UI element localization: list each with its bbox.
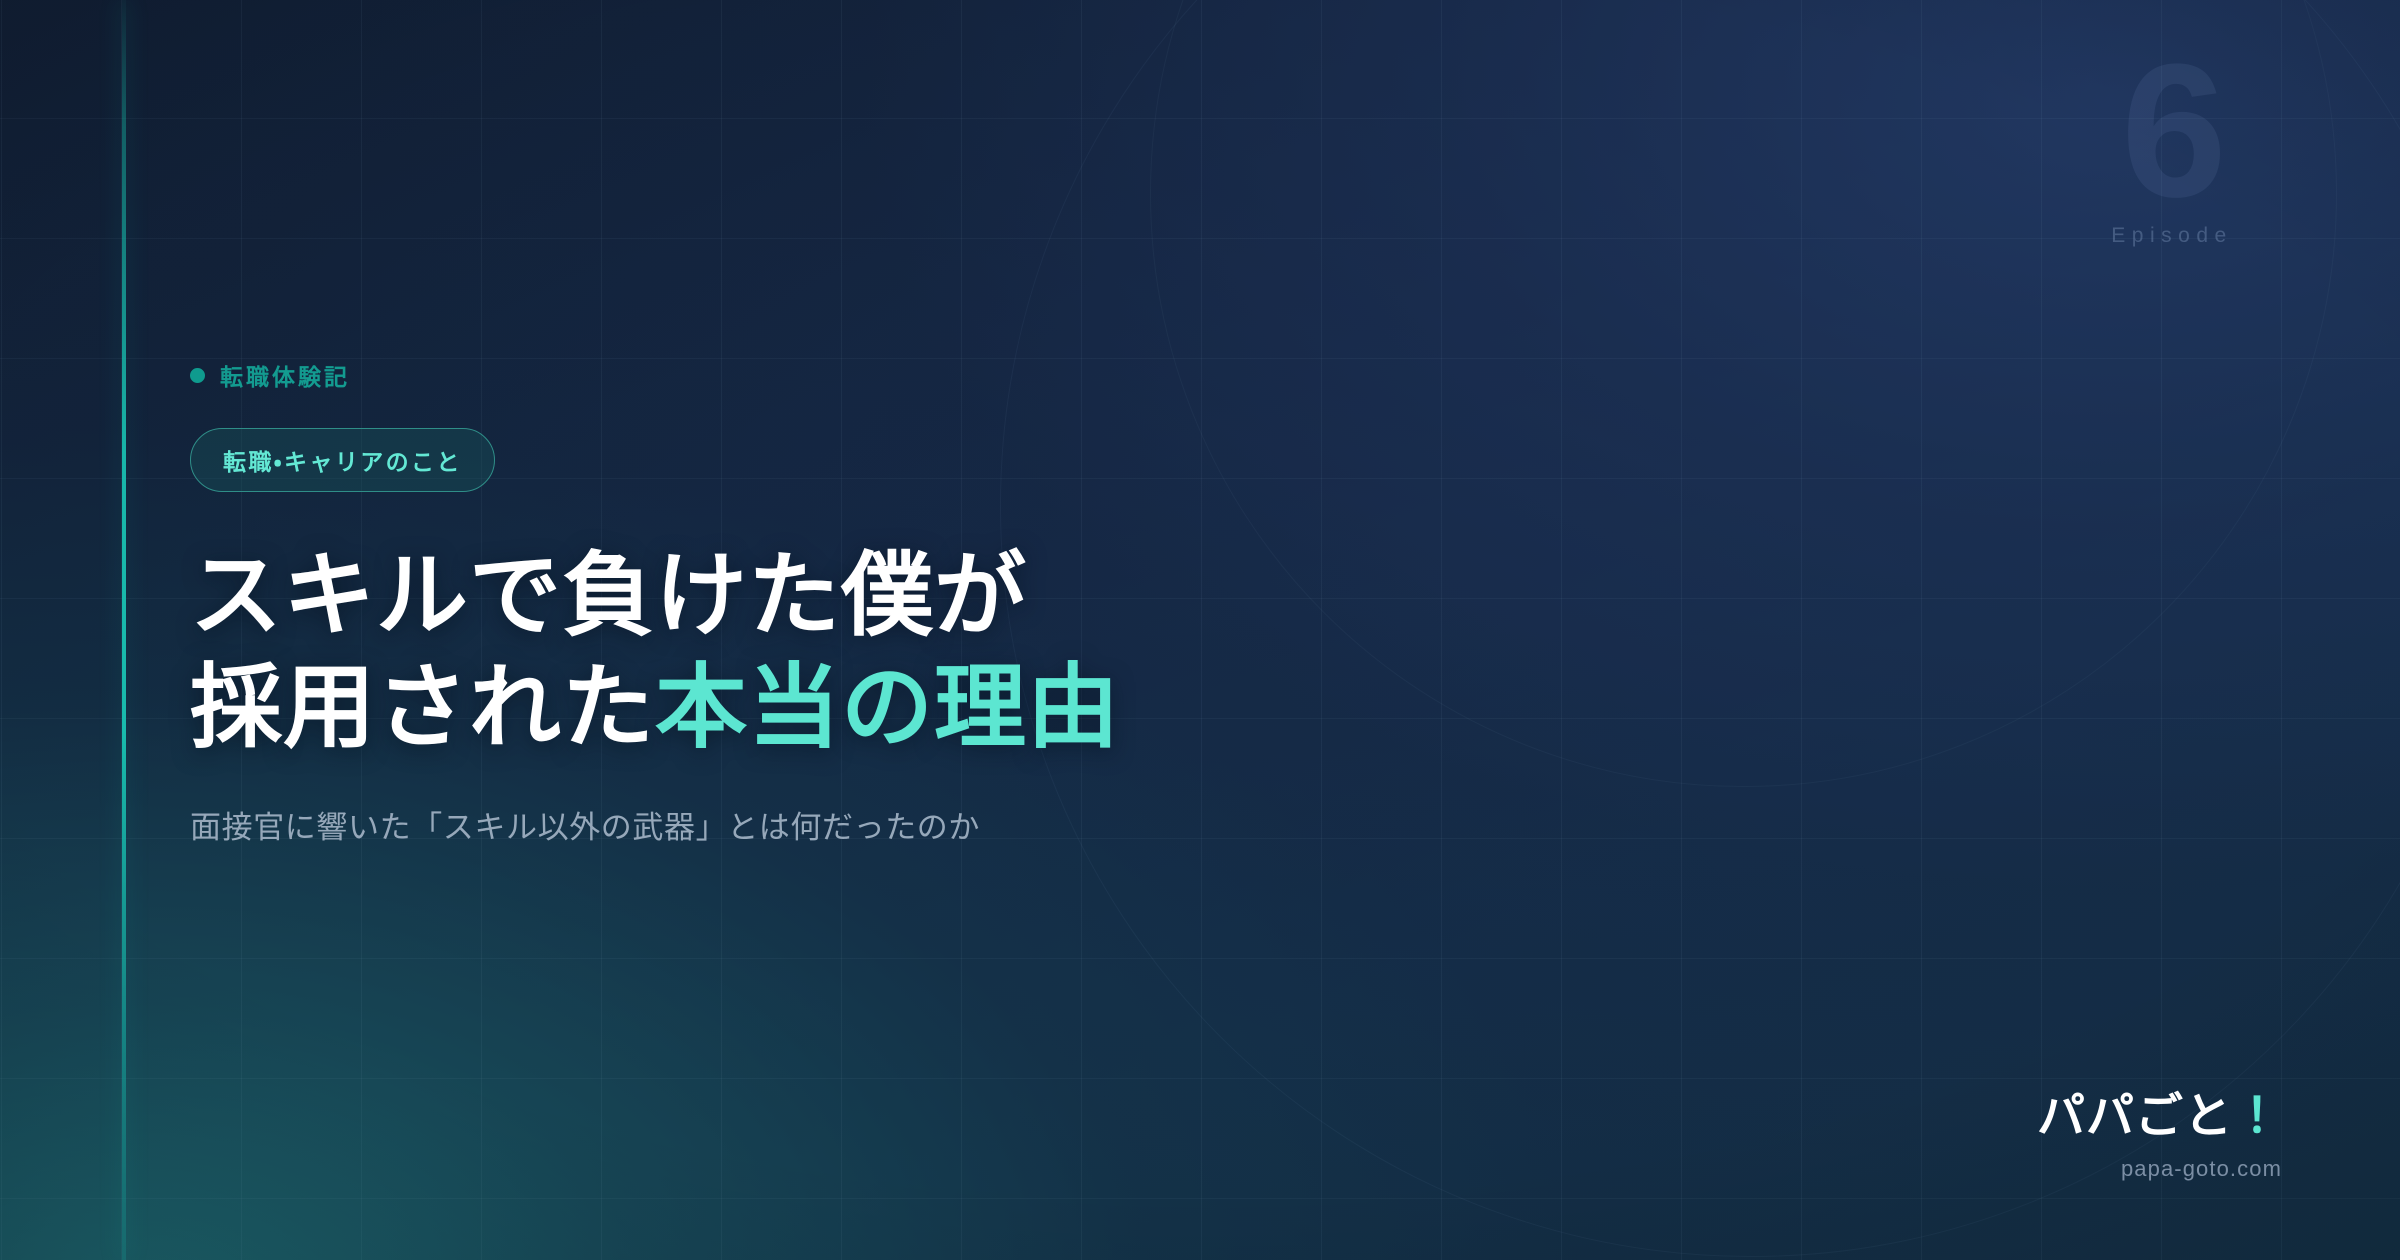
eyebrow-label: 転職体験記 — [220, 358, 350, 392]
title-slide: 6 Episode 転職体験記 転職・キャリアのこと スキルで負けた僕が 採用さ… — [0, 0, 2400, 1260]
subtitle: 面接官に響いた「スキル以外の武器」とは何だったのか — [190, 802, 1540, 847]
left-accent-rail — [122, 0, 126, 1260]
eyebrow: 転職体験記 — [190, 358, 1540, 392]
title-line-2-highlight: 本当の理由 — [655, 657, 1120, 759]
episode-mark: 6 Episode — [2062, 54, 2282, 248]
title-line-2: 採用された本当の理由 — [190, 652, 1540, 764]
category-pill-label: 転職・キャリアのこと — [223, 443, 462, 477]
episode-number: 6 — [2062, 54, 2282, 210]
brand-logo-mark: ！ — [2233, 1090, 2282, 1143]
brand-url: papa-goto.com — [2037, 1156, 2282, 1182]
brand-logo: パパごと！ — [2037, 1091, 2282, 1144]
brand-logo-text: パパごと — [2037, 1090, 2233, 1143]
page-title: スキルで負けた僕が 採用された本当の理由 — [190, 540, 1540, 764]
brand-block: パパごと！ papa-goto.com — [2037, 1091, 2282, 1182]
content-block: 転職体験記 転職・キャリアのこと スキルで負けた僕が 採用された本当の理由 面接… — [190, 358, 1540, 847]
category-pill[interactable]: 転職・キャリアのこと — [190, 428, 495, 492]
title-line-2-plain: 採用された — [190, 657, 655, 759]
episode-label: Episode — [2062, 224, 2282, 248]
dot-icon — [190, 368, 205, 383]
title-line-1: スキルで負けた僕が — [190, 540, 1540, 652]
